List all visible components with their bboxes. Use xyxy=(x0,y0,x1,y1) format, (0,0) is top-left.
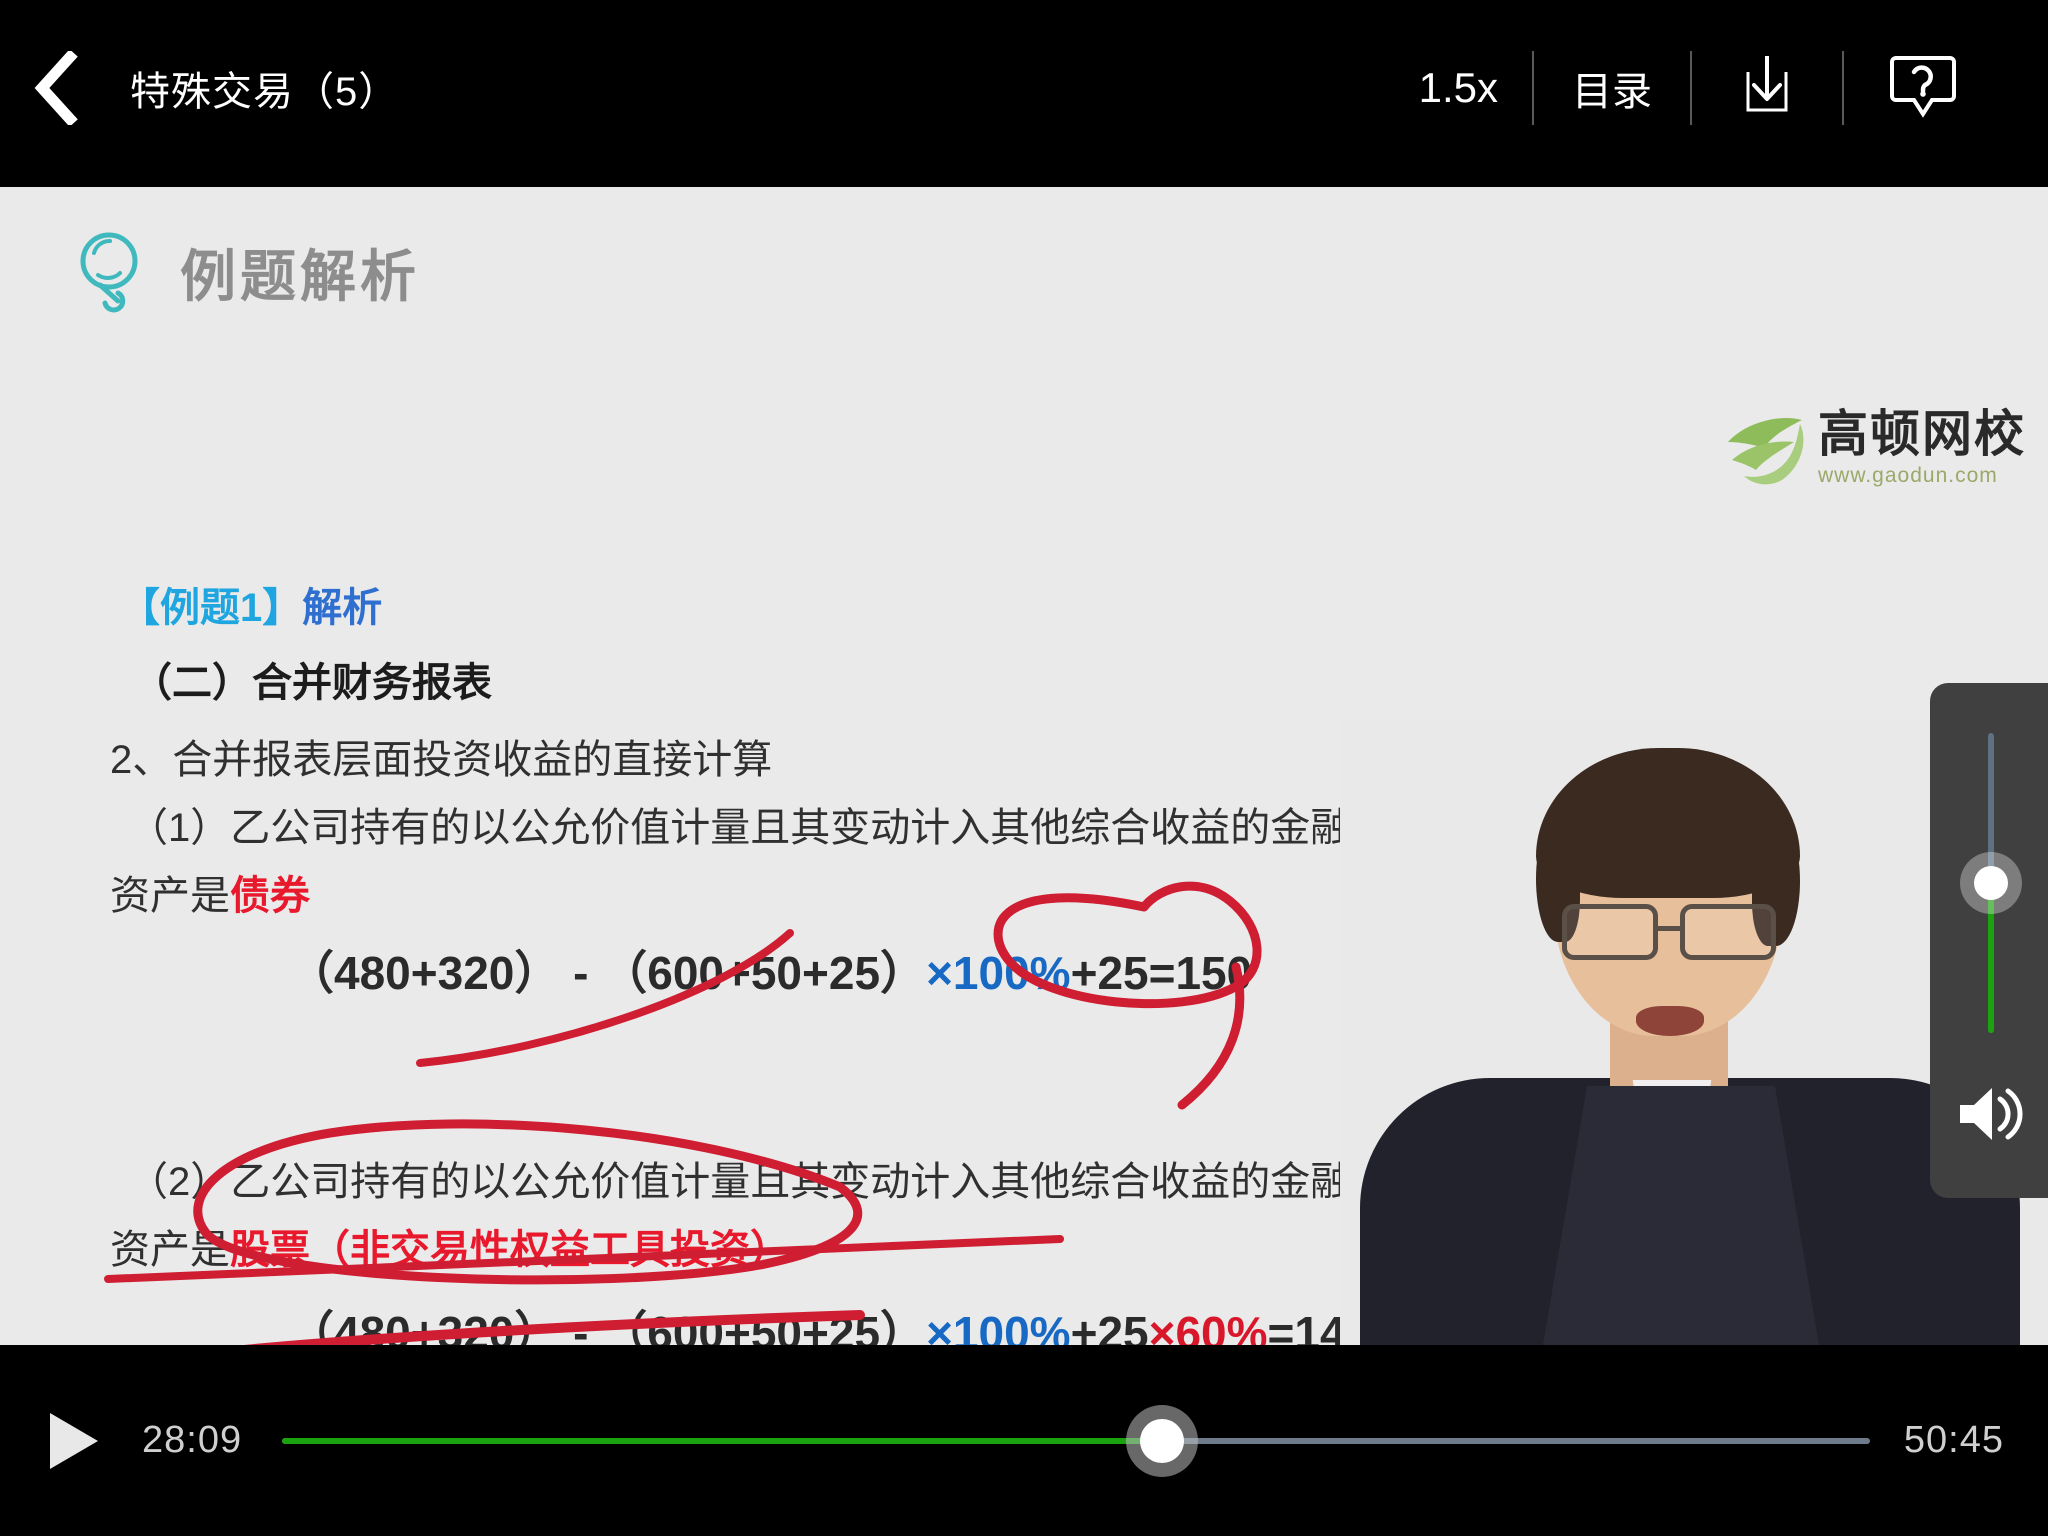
help-question-icon xyxy=(1888,52,1958,123)
video-stage[interactable]: 例题解析 高顿网校 www.gaodun.com 【例题1】解 xyxy=(0,175,2048,1345)
point1-line2-highlight: 债券 xyxy=(230,874,310,918)
formula-2: （480+320） - （600+50+25）×100%+25×60%=140 xyxy=(288,1297,1371,1345)
formula-2-part-a: （480+320） - （600+50+25） xyxy=(288,1307,926,1345)
presenter-mouth xyxy=(1636,1006,1704,1036)
download-button[interactable] xyxy=(1692,54,1842,121)
point1-line2: 资产是债券 xyxy=(110,863,310,921)
play-button[interactable] xyxy=(44,1409,104,1473)
seek-progress xyxy=(282,1438,1162,1444)
chevron-left-icon xyxy=(32,51,78,125)
point2-line2: 资产是股票（非交易性权益工具投资） xyxy=(110,1217,790,1275)
brand-url: www.gaodun.com xyxy=(1818,464,2026,488)
current-time: 28:09 xyxy=(142,1419,242,1462)
player-control-bar: 28:09 50:45 xyxy=(0,1345,2048,1536)
formula-2-percent-red: ×60% xyxy=(1149,1307,1268,1345)
slide-section-header: 例题解析 xyxy=(78,229,420,315)
seek-bar[interactable] xyxy=(282,1409,1870,1473)
presenter-glasses-right xyxy=(1680,904,1776,960)
formula-1-percent: ×100% xyxy=(926,947,1071,999)
download-icon xyxy=(1736,54,1798,121)
formula-1-part-b: +25=150 xyxy=(1071,947,1253,999)
help-button[interactable] xyxy=(1844,52,2002,123)
point1-line2-prefix: 资产是 xyxy=(110,874,230,918)
playback-speed-button[interactable]: 1.5x xyxy=(1385,64,1532,112)
point1-line1: （1）乙公司持有的以公允价值计量且其变动计入其他综合收益的金融 xyxy=(128,795,1350,853)
back-button[interactable] xyxy=(0,0,110,175)
gaodun-leaf-icon xyxy=(1724,414,1810,488)
volume-slider-thumb[interactable] xyxy=(1974,866,2008,900)
point2-line2-prefix: 资产是 xyxy=(110,1228,230,1272)
formula-2-percent-blue: ×100% xyxy=(926,1307,1071,1345)
speaker-volume-icon xyxy=(1956,1132,2026,1149)
formula-2-part-mid: +25 xyxy=(1071,1307,1149,1345)
play-icon xyxy=(44,1460,104,1477)
catalog-button[interactable]: 目录 xyxy=(1534,59,1690,117)
brand-name: 高顿网校 xyxy=(1818,409,2026,459)
brand-logo: 高顿网校 www.gaodun.com xyxy=(1724,409,2026,488)
presenter-glasses-bridge xyxy=(1656,926,1682,931)
video-player-screen: 特殊交易（5） 1.5x 目录 xyxy=(0,0,2048,1536)
lightbulb-icon xyxy=(78,229,140,315)
slide-section-title: 例题解析 xyxy=(180,232,420,313)
top-bar-actions: 1.5x 目录 xyxy=(1385,0,2048,175)
example-tag-word: 解析 xyxy=(302,586,382,630)
volume-button[interactable] xyxy=(1956,1083,2026,1145)
formula-1-part-a: （480+320） - （600+50+25） xyxy=(288,947,926,999)
top-navigation-bar: 特殊交易（5） 1.5x 目录 xyxy=(0,0,2048,175)
example-tag: 【例题1】解析 xyxy=(120,575,382,633)
list-item-2: 2、合并报表层面投资收益的直接计算 xyxy=(110,727,772,785)
volume-panel[interactable] xyxy=(1930,683,2048,1198)
point2-line1: （2）乙公司持有的以公允价值计量且其变动计入其他综合收益的金融 xyxy=(128,1149,1350,1207)
example-tag-bracket: 【例题1】 xyxy=(120,586,302,630)
page-title: 特殊交易（5） xyxy=(130,59,399,117)
formula-1: （480+320） - （600+50+25）×100%+25=150 xyxy=(288,937,1252,1003)
point2-line2-highlight: 股票（非交易性权益工具投资） xyxy=(230,1228,790,1272)
sub-heading: （二）合并财务报表 xyxy=(132,650,492,708)
seek-thumb[interactable] xyxy=(1140,1419,1184,1463)
total-time: 50:45 xyxy=(1904,1419,2004,1462)
presenter-glasses-left xyxy=(1562,904,1658,960)
